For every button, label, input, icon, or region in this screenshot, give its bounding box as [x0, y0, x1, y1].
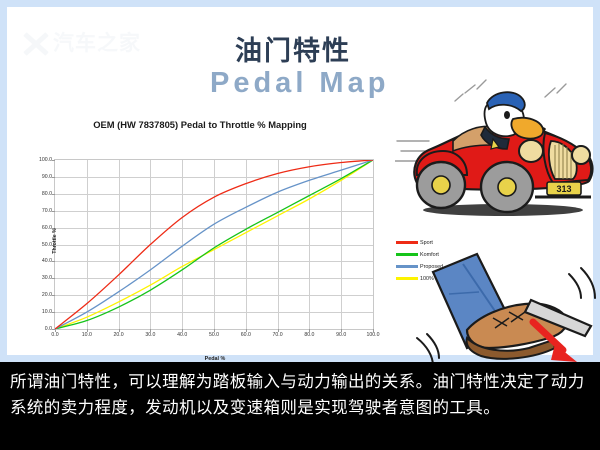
y-axis-tick-label: 40.0 — [42, 258, 52, 264]
license-plate-number: 313 — [556, 184, 571, 194]
x-axis-tick-mark — [182, 329, 183, 332]
series-line-proposed — [55, 160, 373, 329]
y-axis-tick-label: 70.0 — [42, 208, 52, 214]
y-axis-tick-label: 90.0 — [42, 174, 52, 180]
x-axis-tick-mark — [214, 329, 215, 332]
foot-pressing-pedal — [405, 242, 600, 367]
x-axis-tick-mark — [119, 329, 120, 332]
content-card: 汽车之家 油门特性 Pedal Map OEM (HW 7837805) Ped… — [0, 0, 600, 362]
x-axis-tick-label: 0.0 — [51, 332, 58, 338]
page-subtitle: Pedal Map — [210, 67, 389, 100]
x-axis-tick-label: 90.0 — [336, 332, 346, 338]
y-axis-tick-label: 20.0 — [42, 292, 52, 298]
x-axis-tick-mark — [246, 329, 247, 332]
x-axis-tick-label: 70.0 — [273, 332, 283, 338]
x-axis-tick-label: 60.0 — [241, 332, 251, 338]
x-axis-tick-mark — [150, 329, 151, 332]
x-axis-tick-label: 80.0 — [304, 332, 314, 338]
x-axis-tick-label: 30.0 — [145, 332, 155, 338]
series-line-komfort — [55, 160, 373, 329]
x-axis-tick-mark — [278, 329, 279, 332]
y-axis-tick-label: 100.0 — [39, 157, 52, 163]
watermark-text: 汽车之家 — [53, 29, 141, 59]
x-axis-tick-mark — [55, 329, 56, 332]
x-axis-tick-label: 40.0 — [177, 332, 187, 338]
duck-eye — [504, 111, 510, 119]
cartoon-duck-in-red-car: 313 — [395, 79, 600, 219]
y-axis-tick-label: 80.0 — [42, 191, 52, 197]
x-axis-tick-mark — [87, 329, 88, 332]
caption-text: 所谓油门特性，可以理解为踏板输入与动力输出的关系。油门特性决定了动力系统的卖力程… — [0, 362, 600, 450]
x-axis-tick-mark — [309, 329, 310, 332]
y-axis-tick-label: 10.0 — [42, 309, 52, 315]
chart-title: OEM (HW 7837805) Pedal to Throttle % Map… — [15, 119, 385, 130]
card-inner: 汽车之家 油门特性 Pedal Map OEM (HW 7837805) Ped… — [7, 7, 593, 355]
x-axis-tick-mark — [341, 329, 342, 332]
series-line-sport — [55, 160, 373, 329]
x-logo-icon — [21, 29, 51, 59]
chart-curves — [55, 160, 373, 329]
y-axis-tick-label: 30.0 — [42, 275, 52, 281]
screenshot-root: 汽车之家 油门特性 Pedal Map OEM (HW 7837805) Ped… — [0, 0, 600, 450]
x-axis-tick-mark — [373, 329, 374, 332]
y-axis-label: Throttle % — [52, 217, 58, 265]
x-axis-tick-label: 50.0 — [209, 332, 219, 338]
y-axis-tick-label: 50.0 — [42, 242, 52, 248]
headlight-left — [519, 140, 543, 162]
headlight-right — [572, 146, 590, 164]
y-axis-tick-label: 60.0 — [42, 225, 52, 231]
pedal-map-chart: OEM (HW 7837805) Pedal to Throttle % Map… — [15, 119, 385, 364]
series-line-100-linear — [55, 160, 373, 329]
x-axis-tick-label: 20.0 — [114, 332, 124, 338]
x-axis-tick-label: 10.0 — [82, 332, 92, 338]
page-title: 油门特性 — [235, 29, 351, 68]
watermark: 汽车之家 — [21, 27, 151, 61]
plot-area: 0.010.020.030.040.050.060.070.080.090.01… — [54, 159, 374, 330]
x-axis-tick-label: 100.0 — [367, 332, 380, 338]
